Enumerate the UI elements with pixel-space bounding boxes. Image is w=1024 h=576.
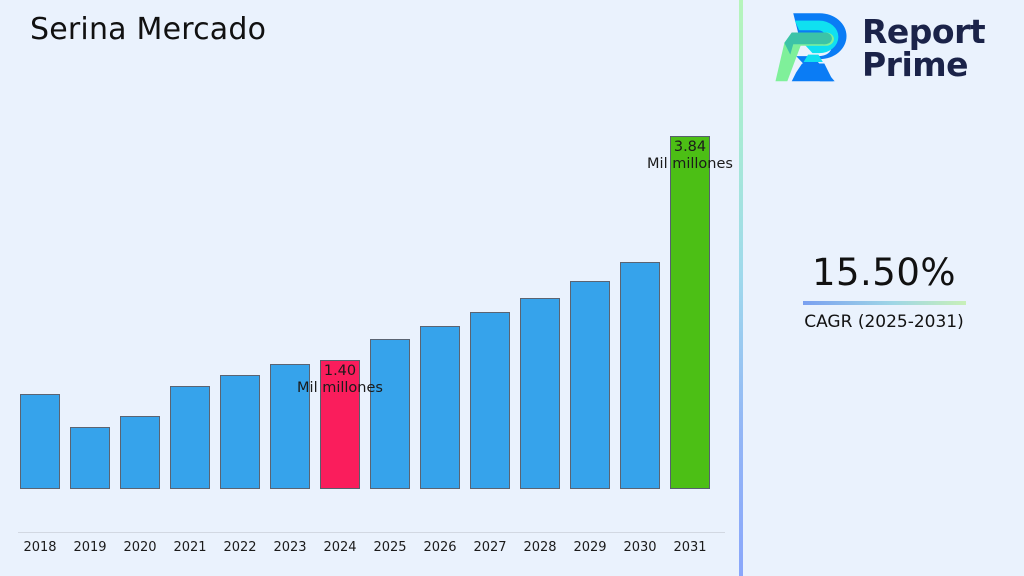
x-tick-2031: 2031 — [670, 540, 710, 555]
x-tick-2025: 2025 — [370, 540, 410, 555]
cagr-value: 15.50% — [744, 252, 1024, 294]
x-tick-2019: 2019 — [70, 540, 110, 555]
infographic-root: Serina Mercado 1.40Mil millones3.84Mil m… — [0, 0, 1024, 576]
side-panel: Report Prime 15.50% CAGR (2025-2031) — [744, 0, 1024, 576]
bar-2022 — [220, 375, 260, 489]
x-tick-2030: 2030 — [620, 540, 660, 555]
x-tick-2028: 2028 — [520, 540, 560, 555]
bar-2029 — [570, 281, 610, 489]
x-tick-2024: 2024 — [320, 540, 360, 555]
brand-name-line1: Report — [862, 15, 985, 48]
bar-2019 — [70, 427, 110, 489]
bar-2026 — [420, 326, 460, 489]
bar-2030 — [620, 262, 660, 489]
x-axis-line — [18, 532, 725, 533]
x-tick-2023: 2023 — [270, 540, 310, 555]
report-prime-logo-icon — [774, 10, 848, 86]
panel-divider — [739, 0, 743, 576]
x-tick-2021: 2021 — [170, 540, 210, 555]
x-tick-2026: 2026 — [420, 540, 460, 555]
bar-2021 — [170, 386, 210, 489]
bar-2025 — [370, 339, 410, 489]
bar-callout-value-2024: 1.40 — [260, 363, 420, 380]
cagr-label: CAGR (2025-2031) — [744, 311, 1024, 333]
plot-area: 1.40Mil millones3.84Mil millones — [0, 0, 740, 533]
bar-2028 — [520, 298, 560, 489]
bar-callout-2024: 1.40Mil millones — [260, 363, 420, 397]
bar-2027 — [470, 312, 510, 489]
x-tick-2029: 2029 — [570, 540, 610, 555]
cagr-divider-rule — [803, 301, 966, 305]
chart-panel: Serina Mercado 1.40Mil millones3.84Mil m… — [0, 0, 740, 576]
bar-2020 — [120, 416, 160, 489]
cagr-block: 15.50% CAGR (2025-2031) — [744, 252, 1024, 333]
bar-2018 — [20, 394, 60, 489]
bar-2031 — [670, 136, 710, 489]
x-tick-2027: 2027 — [470, 540, 510, 555]
x-tick-2018: 2018 — [20, 540, 60, 555]
bar-callout-unit-2024: Mil millones — [260, 380, 420, 397]
brand-lockup: Report Prime — [774, 10, 985, 86]
brand-name: Report Prime — [862, 15, 985, 81]
brand-name-line2: Prime — [862, 48, 985, 81]
x-tick-2020: 2020 — [120, 540, 160, 555]
x-tick-2022: 2022 — [220, 540, 260, 555]
